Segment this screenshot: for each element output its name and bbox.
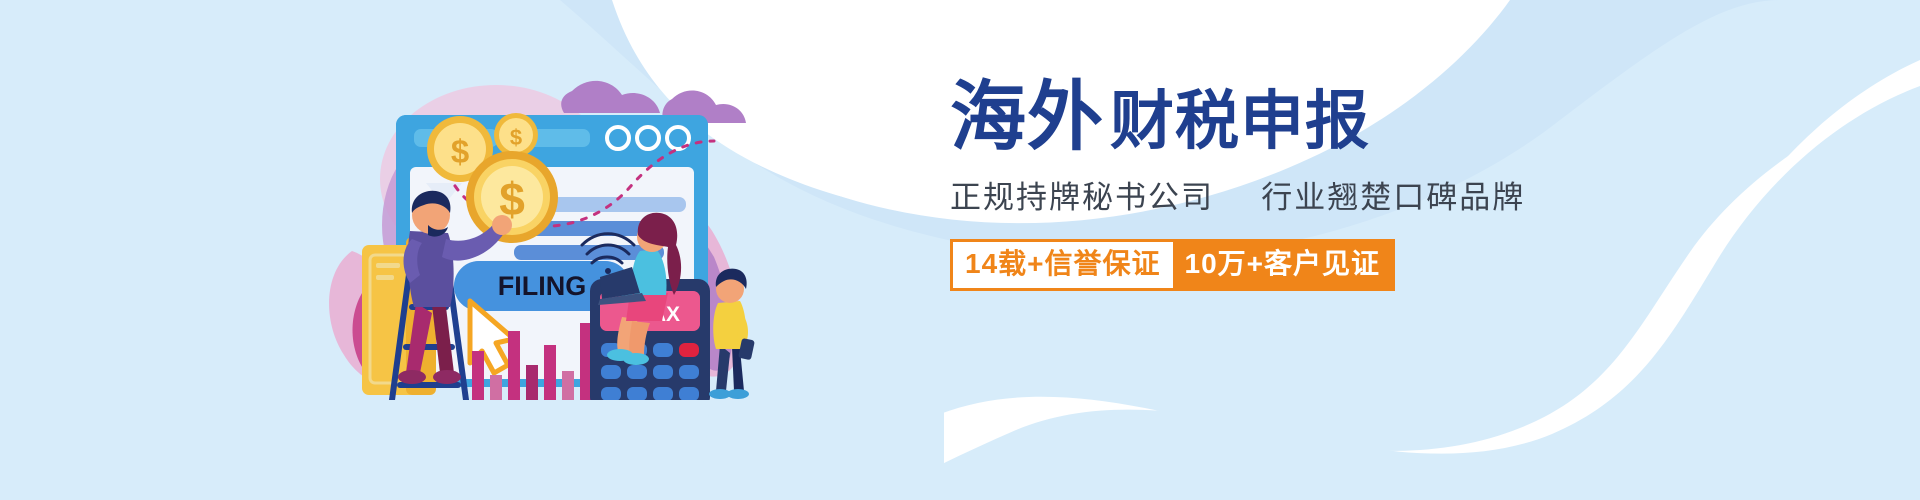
subtitle: 正规持牌秘书公司 行业翘楚口碑品牌 <box>950 172 1570 217</box>
bar-chart-secondary <box>692 375 701 400</box>
status-badge-clients: 10万+客户见证 <box>1173 239 1396 291</box>
filing-button-label: FILING <box>498 271 587 301</box>
tax-filing-illustration: FILING $ $ <box>300 55 760 400</box>
page-title: 海外 财税申报 <box>950 82 1570 154</box>
status-badge-tenure: 14载+信誉保证 <box>950 239 1173 291</box>
promo-banner: FILING $ $ <box>0 0 1920 500</box>
copy-block: 海外 财税申报 正规持牌秘书公司 行业翘楚口碑品牌 14载+信誉保证 10万+客… <box>950 82 1570 291</box>
coin-symbol: $ <box>510 125 522 150</box>
coin-symbol: $ <box>451 133 469 170</box>
subtitle-left: 正规持牌秘书公司 <box>950 180 1214 215</box>
badge-group: 14载+信誉保证 10万+客户见证 <box>950 239 1395 291</box>
coin-large: $ <box>466 151 558 243</box>
coin-small-top: $ <box>494 113 538 157</box>
headline-sub: 财税申报 <box>1110 91 1370 154</box>
subtitle-right: 行业翘楚口碑品牌 <box>1261 180 1525 215</box>
headline-main: 海外 <box>950 82 1104 154</box>
